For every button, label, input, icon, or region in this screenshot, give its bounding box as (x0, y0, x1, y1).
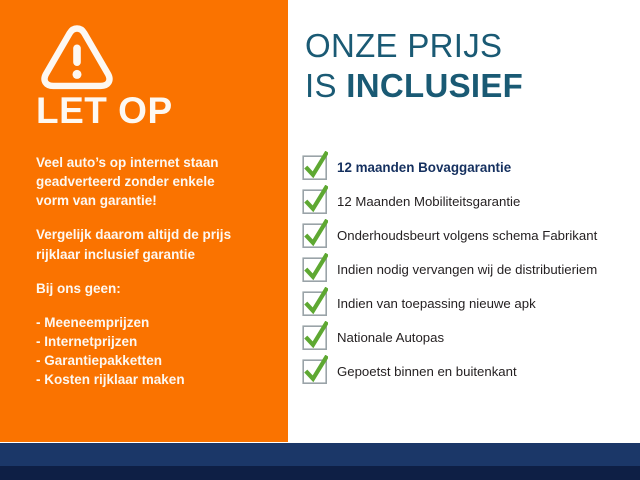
list-item: Onderhoudsbeurt volgens schema Fabrikant (302, 219, 638, 253)
footer-bar-navy-dark (0, 466, 640, 480)
list-item-label: 12 Maanden Mobiliteitsgarantie (337, 194, 520, 210)
checked-checkbox-icon (302, 155, 328, 181)
list-item-label: 12 maanden Bovaggarantie (337, 160, 511, 176)
headline-line-2-strong: INCLUSIEF (346, 67, 523, 104)
paragraph-2-line-1: Vergelijk daarom altijd de prijs (36, 225, 276, 244)
checked-checkbox-icon (302, 359, 328, 385)
paragraph-1-line-1: Veel auto’s op internet staan (36, 153, 276, 172)
list-item-label: Onderhoudsbeurt volgens schema Fabrikant (337, 228, 597, 244)
headline: ONZE PRIJS IS INCLUSIEF (305, 26, 523, 107)
checked-checkbox-icon (302, 189, 328, 215)
list-item: 12 maanden Bovaggarantie (302, 151, 638, 185)
warning-body-text: Veel auto’s op internet staan geadvertee… (36, 153, 276, 390)
exclusion-list-heading: Bij ons geen: (36, 279, 276, 298)
list-item: Indien nodig vervangen wij de distributi… (302, 253, 638, 287)
checked-checkbox-icon (302, 291, 328, 317)
list-item: Indien van toepassing nieuwe apk (302, 287, 638, 321)
checked-checkbox-icon (302, 257, 328, 283)
list-item-label: Indien nodig vervangen wij de distributi… (337, 262, 597, 278)
list-item: Nationale Autopas (302, 321, 638, 355)
spacer (36, 298, 276, 313)
paragraph-2-line-2: rijklaar inclusief garantie (36, 245, 276, 264)
promo-banner: LET OP Veel auto’s op internet staan gea… (0, 0, 640, 480)
checked-checkbox-icon (302, 325, 328, 351)
list-item: - Garantiepakketten (36, 351, 276, 370)
footer-bar-navy (0, 443, 640, 466)
spacer (36, 210, 276, 225)
headline-line-2-prefix: IS (305, 67, 346, 104)
list-item-label: Indien van toepassing nieuwe apk (337, 296, 536, 312)
list-item-label: Nationale Autopas (337, 330, 444, 346)
headline-line-2: IS INCLUSIEF (305, 66, 523, 106)
headline-line-1: ONZE PRIJS (305, 26, 523, 66)
page-title: LET OP (36, 92, 173, 131)
warning-triangle-icon (38, 22, 116, 92)
inclusions-checklist: 12 maanden Bovaggarantie 12 Maanden Mobi… (302, 151, 638, 389)
list-item: 12 Maanden Mobiliteitsgarantie (302, 185, 638, 219)
list-item: - Meeneemprijzen (36, 313, 276, 332)
inclusive-price-panel: ONZE PRIJS IS INCLUSIEF 12 maanden Bovag… (288, 0, 640, 442)
paragraph-1-line-3: vorm van garantie! (36, 191, 276, 210)
list-item-label: Gepoetst binnen en buitenkant (337, 364, 517, 380)
paragraph-1-line-2: geadverteerd zonder enkele (36, 172, 276, 191)
list-item: Gepoetst binnen en buitenkant (302, 355, 638, 389)
checked-checkbox-icon (302, 223, 328, 249)
list-item: - Internetprijzen (36, 332, 276, 351)
warning-panel: LET OP Veel auto’s op internet staan gea… (0, 0, 288, 442)
spacer (36, 264, 276, 279)
list-item: - Kosten rijklaar maken (36, 370, 276, 389)
